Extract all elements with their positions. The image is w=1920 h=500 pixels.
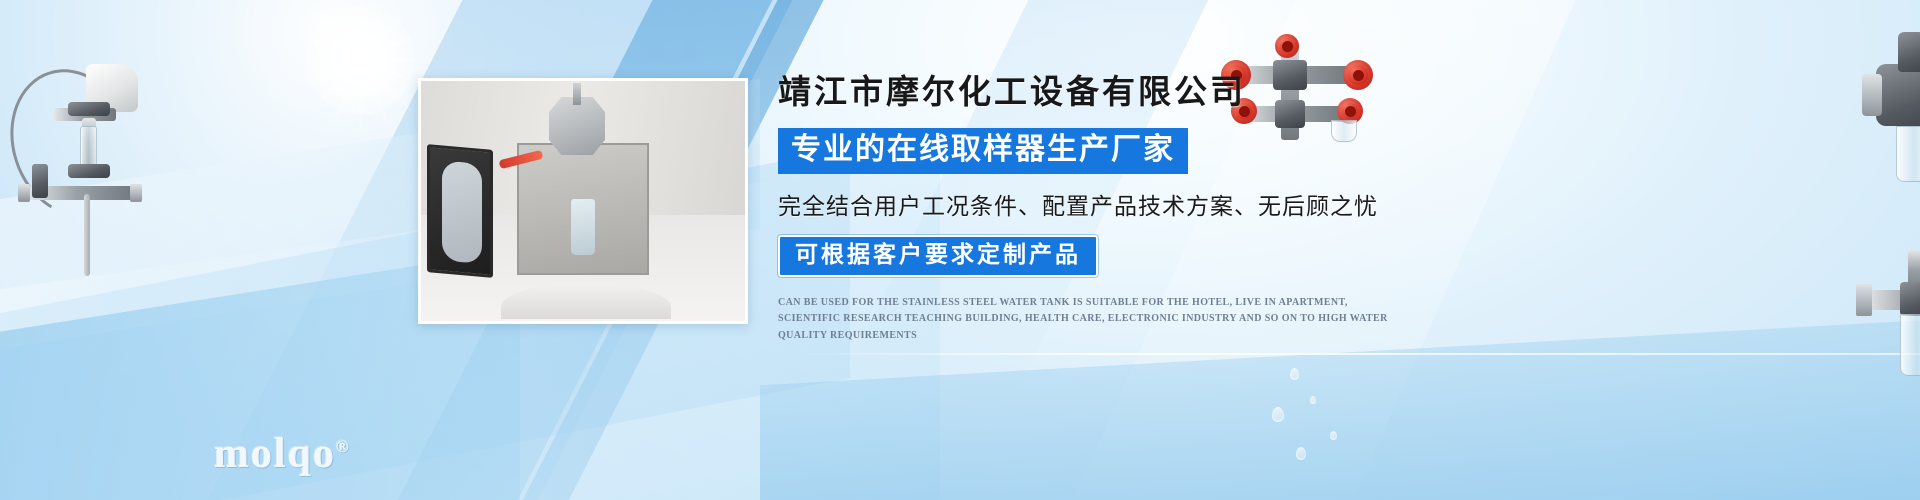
english-caption: CAN BE USED FOR THE STAINLESS STEEL WATE… bbox=[778, 295, 1393, 345]
sun-ray bbox=[306, 6, 414, 114]
actuator-lever bbox=[1898, 32, 1920, 72]
sun-ray bbox=[331, 0, 390, 130]
sight-glass bbox=[80, 126, 97, 166]
sun-core bbox=[305, 5, 415, 115]
banner-copy: 靖江市摩尔化工设备有限公司 专业的在线取样器生产厂家 完全结合用户工况条件、配置… bbox=[778, 74, 1418, 344]
tagline-highlight: 专业的在线取样器生产厂家 bbox=[778, 128, 1188, 175]
flange bbox=[1856, 284, 1872, 316]
sun-ray bbox=[329, 0, 390, 130]
watermark-registered-mark: ® bbox=[336, 437, 351, 456]
sun-ray bbox=[285, 59, 435, 62]
red-handwheel-icon bbox=[1275, 34, 1299, 58]
pipe-vertical bbox=[1908, 250, 1920, 294]
pipe-horizontal bbox=[1866, 290, 1920, 310]
photo-valve-head bbox=[549, 97, 605, 155]
product-photo bbox=[418, 78, 748, 324]
photo-sample-bottle bbox=[571, 199, 595, 255]
sample-bottle bbox=[1896, 126, 1920, 182]
water-drop-icon bbox=[1310, 396, 1316, 404]
valve-body bbox=[1900, 282, 1920, 316]
valve-body bbox=[1876, 64, 1920, 126]
sun-ray bbox=[290, 31, 430, 90]
custom-note-badge: 可根据客户要求定制产品 bbox=[778, 235, 1098, 277]
product-photo-image bbox=[421, 81, 745, 321]
tagline-text: 专业的在线取样器生产厂家 bbox=[791, 133, 1175, 168]
promo-banner: 靖江市摩尔化工设备有限公司 专业的在线取样器生产厂家 完全结合用户工况条件、配置… bbox=[0, 0, 1920, 500]
water-drop-icon bbox=[1290, 368, 1299, 380]
pipe-lower bbox=[28, 186, 136, 200]
watermark: molqo® bbox=[214, 430, 351, 478]
watermark-text: molqo bbox=[214, 431, 336, 477]
photo-valve-stem bbox=[573, 83, 581, 105]
company-name: 靖江市摩尔化工设备有限公司 bbox=[778, 74, 1418, 114]
horizon-line bbox=[800, 353, 1920, 355]
subline-text: 完全结合用户工况条件、配置产品技术方案、无后顾之忧 bbox=[778, 187, 1418, 221]
probe-stem bbox=[84, 194, 90, 276]
transmitter-housing bbox=[86, 64, 138, 112]
flange bbox=[1862, 74, 1882, 116]
sun-ray bbox=[306, 6, 414, 114]
sun-ray bbox=[359, 0, 362, 135]
water-drop-icon bbox=[1330, 431, 1337, 440]
valve-block bbox=[68, 102, 110, 116]
water-drop-icon bbox=[1296, 447, 1306, 460]
equipment-wellhead-valve bbox=[1870, 30, 1920, 220]
water-drop-icon bbox=[1272, 407, 1284, 422]
sun-ray bbox=[290, 29, 429, 90]
cable-loop-icon bbox=[0, 53, 152, 233]
pipe-vertical bbox=[82, 118, 96, 170]
custom-note-text: 可根据客户要求定制产品 bbox=[795, 241, 1081, 269]
pipe-horizontal bbox=[54, 108, 116, 121]
flange bbox=[18, 184, 30, 202]
flange bbox=[130, 184, 142, 202]
relief-valve bbox=[32, 164, 48, 198]
photo-cabinet-door bbox=[427, 144, 493, 278]
photo-door-window bbox=[442, 160, 482, 263]
valve-block bbox=[68, 164, 110, 178]
